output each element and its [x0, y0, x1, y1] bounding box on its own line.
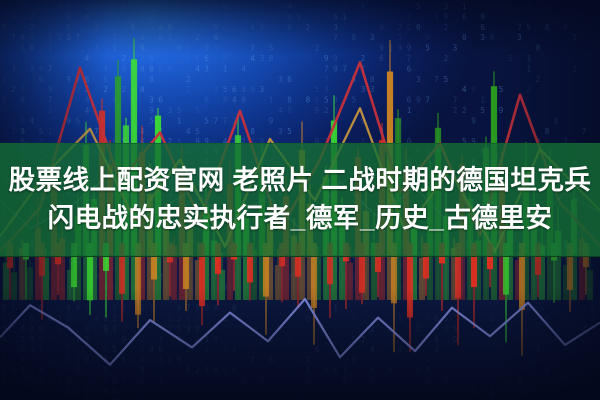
caption-line-2: 闪电战的忠实执行者_德军_历史_古德里安 — [48, 201, 553, 235]
caption-block: 股票线上配资官网 老照片 二战时期的德国坦克兵 闪电战的忠实执行者_德军_历史_… — [0, 143, 600, 255]
caption-line-1: 股票线上配资官网 老照片 二战时期的德国坦克兵 — [9, 163, 592, 197]
stock-banner-image: 3154551564545319024882109617596982848449… — [0, 0, 600, 400]
